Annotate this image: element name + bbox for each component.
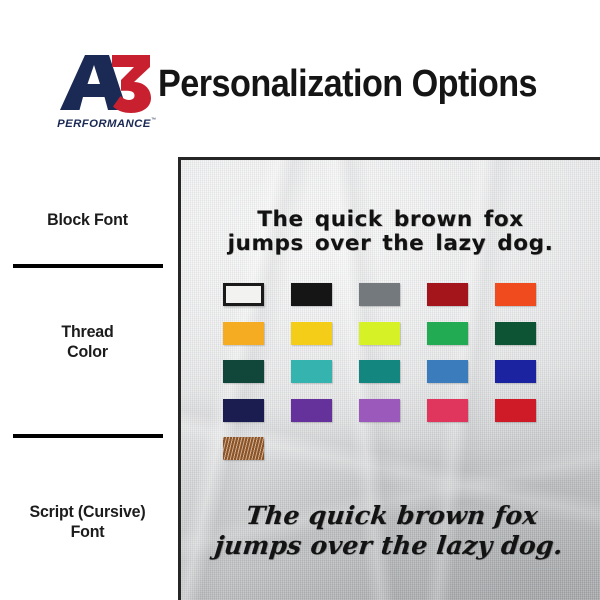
thread-color-swatch-cell[interactable]	[223, 399, 291, 438]
a3-performance-logo: PERFORMANCE ™	[52, 52, 156, 132]
thread-color-swatch[interactable]	[427, 399, 468, 422]
thread-color-swatch-cell[interactable]	[359, 283, 427, 322]
thread-color-swatch-cell[interactable]	[291, 322, 359, 361]
script-sample-line-1: The quick brown fox	[181, 501, 600, 531]
thread-color-swatch-cell[interactable]	[427, 360, 495, 399]
personalization-options-page: PERFORMANCE ™ Personalization Options Bl…	[0, 0, 600, 600]
swatch-cell-empty	[359, 437, 427, 476]
sidebar-item-label-second-line: Color	[67, 342, 108, 361]
thread-color-swatch-cell[interactable]	[495, 322, 563, 361]
swatch-cell-empty	[495, 437, 563, 476]
thread-color-swatch-cell[interactable]	[223, 360, 291, 399]
thread-color-swatch[interactable]	[495, 360, 536, 383]
thread-color-swatch-cell[interactable]	[359, 399, 427, 438]
sidebar-item-thread-color: Thread Color	[5, 322, 170, 362]
sidebar-item-label: Thread	[61, 322, 113, 341]
thread-color-swatch[interactable]	[359, 399, 400, 422]
thread-color-swatch-cell[interactable]	[291, 283, 359, 322]
thread-color-swatch-cell[interactable]	[427, 322, 495, 361]
sidebar-divider-2	[13, 434, 163, 438]
block-sample-line-2: jumps over the lazy dog.	[181, 232, 600, 256]
swatch-cell-empty	[291, 437, 359, 476]
sidebar-item-label: Block Font	[47, 210, 128, 229]
thread-color-swatch-cell[interactable]	[495, 360, 563, 399]
thread-color-swatch-cell[interactable]	[495, 283, 563, 322]
thread-color-swatch[interactable]	[291, 322, 332, 345]
thread-color-swatch[interactable]	[223, 437, 264, 460]
script-sample-line-2: jumps over the lazy dog.	[178, 531, 600, 561]
thread-color-swatch-cell[interactable]	[223, 283, 291, 322]
thread-color-swatch[interactable]	[427, 360, 468, 383]
thread-color-swatch-cell[interactable]	[359, 322, 427, 361]
thread-color-swatch[interactable]	[495, 399, 536, 422]
thread-color-swatch[interactable]	[359, 283, 400, 306]
sidebar-item-script-font: Script (Cursive) Font	[5, 502, 170, 542]
thread-color-swatch[interactable]	[291, 360, 332, 383]
swatch-row	[223, 360, 563, 399]
thread-color-swatch[interactable]	[223, 322, 264, 345]
page-header: PERFORMANCE ™ Personalization Options	[0, 0, 600, 150]
script-font-sample-text: The quick brown fox jumps over the lazy …	[178, 501, 600, 560]
swatch-row	[223, 322, 563, 361]
thread-color-swatch-cell[interactable]	[223, 437, 291, 476]
embroidery-sample-panel: The quick brown fox jumps over the lazy …	[178, 157, 600, 600]
sidebar-item-label-second-line: Font	[71, 522, 105, 541]
thread-color-swatch-cell[interactable]	[427, 283, 495, 322]
thread-color-swatch-cell[interactable]	[427, 399, 495, 438]
thread-color-swatch-cell[interactable]	[223, 322, 291, 361]
logo-tagline: PERFORMANCE	[57, 118, 151, 130]
thread-color-swatch[interactable]	[291, 283, 332, 306]
thread-color-swatch[interactable]	[223, 360, 264, 383]
thread-color-swatch[interactable]	[495, 283, 536, 306]
thread-color-swatch[interactable]	[223, 399, 264, 422]
logo-star-icon	[86, 100, 105, 118]
logo-trademark-icon: ™	[151, 117, 156, 123]
thread-color-swatch[interactable]	[291, 399, 332, 422]
sidebar-item-label: Script (Cursive)	[29, 502, 145, 521]
thread-color-swatch[interactable]	[495, 322, 536, 345]
thread-color-swatch-cell[interactable]	[291, 399, 359, 438]
swatch-row	[223, 283, 563, 322]
swatch-row	[223, 437, 563, 476]
thread-color-swatch[interactable]	[427, 283, 468, 306]
thread-color-swatch[interactable]	[427, 322, 468, 345]
sidebar-divider-1	[13, 264, 163, 268]
thread-color-swatch-cell[interactable]	[495, 399, 563, 438]
options-sidebar: Block Font Thread Color Script (Cursive)…	[0, 150, 175, 600]
thread-color-swatch-grid	[223, 283, 563, 476]
block-sample-line-1: The quick brown fox	[181, 208, 600, 232]
swatch-row	[223, 399, 563, 438]
thread-color-swatch[interactable]	[223, 283, 264, 306]
thread-color-swatch[interactable]	[359, 322, 400, 345]
a3-performance-logo-svg: PERFORMANCE ™	[52, 52, 156, 132]
page-title: Personalization Options	[158, 63, 545, 106]
sidebar-item-block-font: Block Font	[5, 210, 170, 230]
thread-color-swatch[interactable]	[359, 360, 400, 383]
thread-color-swatch-cell[interactable]	[291, 360, 359, 399]
block-font-sample-text: The quick brown fox jumps over the lazy …	[181, 208, 600, 256]
thread-color-swatch-cell[interactable]	[359, 360, 427, 399]
swatch-cell-empty	[427, 437, 495, 476]
